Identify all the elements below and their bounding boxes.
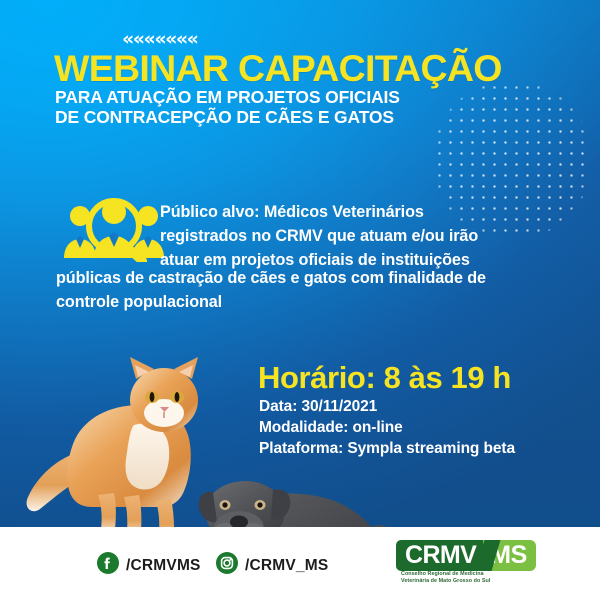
audience-line-5: controle populacional xyxy=(56,290,556,314)
logo-primary-text: CRMV xyxy=(405,543,476,568)
audience-text-secondary: públicas de castração de cães e gatos co… xyxy=(56,266,556,314)
instagram-handle: /CRMV_MS xyxy=(245,557,328,575)
logo-subtitle-line-2: Veterinária de Mato Grosso do Sul xyxy=(401,578,551,585)
logo-blocks: CRMV MS xyxy=(396,540,564,571)
crmv-ms-logo: CRMV MS Conselho Regional de Medicina Ve… xyxy=(396,540,568,586)
schedule-date: Data: 30/11/2021 xyxy=(259,396,515,417)
facebook-link[interactable]: /CRMVMS xyxy=(97,552,201,579)
audience-line-2: registrados no CRMV que atuam e/ou irão xyxy=(160,224,530,248)
audience-search-icon xyxy=(62,196,166,262)
audience-line-1: Público alvo: Médicos Veterinários xyxy=(160,200,530,224)
logo-subtitle: Conselho Regional de Medicina Veterinári… xyxy=(401,571,551,584)
logo-subtitle-line-1: Conselho Regional de Medicina xyxy=(401,571,551,578)
webinar-poster: ««««««« WEBINAR CAPACITAÇÃO PARA ATUAÇÃO… xyxy=(0,0,600,600)
page-title: WEBINAR CAPACITAÇÃO xyxy=(54,50,502,88)
audience-line-4: públicas de castração de cães e gatos co… xyxy=(56,266,556,290)
page-subtitle: PARA ATUAÇÃO EM PROJETOS OFICIAIS DE CON… xyxy=(55,88,400,127)
subtitle-line-2: DE CONTRACEPÇÃO DE CÃES E GATOS xyxy=(55,108,400,128)
audience-text-primary: Público alvo: Médicos Veterinários regis… xyxy=(160,200,530,272)
schedule-modality: Modalidade: on-line xyxy=(259,417,515,438)
schedule-heading: Horário: 8 às 19 h xyxy=(258,362,511,393)
schedule-platform: Plataforma: Sympla streaming beta xyxy=(259,438,515,459)
instagram-link[interactable]: /CRMV_MS xyxy=(216,552,328,579)
subtitle-line-1: PARA ATUAÇÃO EM PROJETOS OFICIAIS xyxy=(55,88,400,108)
facebook-icon[interactable] xyxy=(97,552,119,579)
schedule-details: Data: 30/11/2021 Modalidade: on-line Pla… xyxy=(259,396,515,459)
logo-primary-block: CRMV xyxy=(396,540,483,571)
instagram-icon[interactable] xyxy=(216,552,238,579)
facebook-handle: /CRMVMS xyxy=(126,557,201,575)
